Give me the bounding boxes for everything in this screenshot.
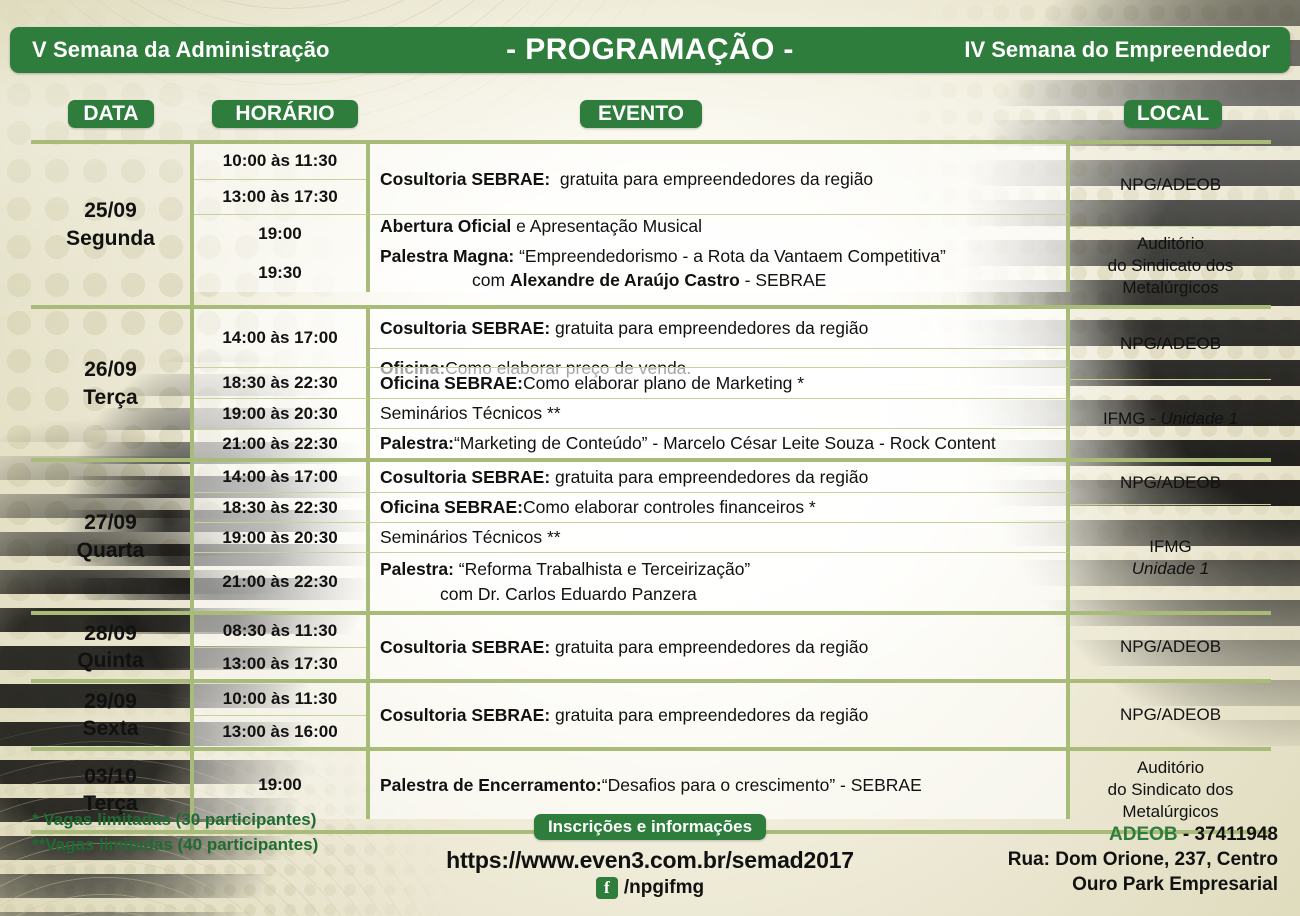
day-cell: 29/09 Sexta xyxy=(31,683,194,747)
event-detail: “Empreendedorismo - a Rota da Vantaem Co… xyxy=(519,246,946,266)
event-detail: - SEBRAE xyxy=(740,270,827,290)
event-title: Cosultoria SEBRAE: xyxy=(380,465,550,490)
facebook-icon[interactable]: f xyxy=(596,877,618,899)
day-cell: 25/09 Segunda xyxy=(31,144,194,305)
time-cell: 08:30 às 11:30 xyxy=(194,615,366,647)
local-text: Metalúrgicos xyxy=(1122,277,1218,299)
event-detail: gratuita para empreendedores da região xyxy=(560,169,873,189)
time-cell: 19:00 xyxy=(194,215,366,254)
local-cell: Auditório do Sindicato dos Metalúrgicos xyxy=(1070,226,1271,305)
header-bar: V Semana da Administração - PROGRAMAÇÃO … xyxy=(10,27,1290,73)
event-cell: Oficina SEBRAE: Como elaborar controles … xyxy=(370,492,1070,522)
day-rows: 14:00 às 17:00 Cosultoria SEBRAE: gratui… xyxy=(194,462,1070,611)
local-text: NPG/ADEOB xyxy=(1120,472,1221,494)
day-rows: 10:00 às 11:30 13:00 às 16:00 Cosultoria… xyxy=(194,683,1070,747)
event-group: Cosultoria SEBRAE: gratuita para empreen… xyxy=(370,309,1070,367)
local-text: NPG/ADEOB xyxy=(1120,174,1221,196)
local-text: NPG/ADEOB xyxy=(1120,333,1221,355)
contact-address-1: Rua: Dom Orione, 237, Centro xyxy=(1008,847,1278,872)
local-cell: NPG/ADEOB xyxy=(1070,309,1271,379)
speaker-name: Alexandre de Araújo Castro xyxy=(510,270,740,290)
event-line: Palestra: “Reforma Trabalhista e Terceir… xyxy=(380,557,750,582)
time-cell: 13:00 às 16:00 xyxy=(194,715,366,748)
day-weekday: Sexta xyxy=(82,715,138,743)
local-cell: NPG/ADEOB xyxy=(1070,144,1271,226)
local-cell: NPG/ADEOB xyxy=(1070,683,1271,747)
schedule-subrow: 10:00 às 11:30 13:00 às 17:30 Cosultoria… xyxy=(194,144,1070,214)
local-text: Auditório xyxy=(1137,757,1204,779)
day-weekday: Segunda xyxy=(66,225,155,253)
local-cell-group: NPG/ADEOB xyxy=(1070,683,1271,747)
contact-address-2: Ouro Park Empresarial xyxy=(1008,872,1278,897)
local-unit: Unidade 1 xyxy=(1161,409,1239,428)
time-cell: 21:00 às 22:30 xyxy=(194,552,370,611)
schedule-subrow: 21:00 às 22:30 Palestra: “Reforma Trabal… xyxy=(194,552,1070,611)
local-text: Auditório xyxy=(1137,233,1204,255)
column-header-local: LOCAL xyxy=(1124,100,1222,128)
event-detail: “Reforma Trabalhista e Terceirização” xyxy=(454,559,750,579)
event-title: Palestra Magna: xyxy=(380,246,514,266)
schedule-subrow: 14:00 às 17:00 Cosultoria SEBRAE: gratui… xyxy=(194,462,1070,492)
time-group: 10:00 às 11:30 13:00 às 16:00 xyxy=(194,683,370,747)
column-header-data: DATA xyxy=(68,100,154,128)
time-cell: 13:00 às 17:30 xyxy=(194,647,366,680)
day-date: 28/09 xyxy=(84,620,137,648)
schedule-subrow: 08:30 às 11:30 13:00 às 17:30 Cosultoria… xyxy=(194,615,1070,679)
time-cell: 19:00 às 20:30 xyxy=(194,522,370,552)
event-title: Oficina SEBRAE: xyxy=(380,371,523,396)
time-cell: 21:00 às 22:30 xyxy=(194,428,370,458)
event-cell: Cosultoria SEBRAE: gratuita para empreen… xyxy=(370,462,1070,492)
schedule-subrow: 18:30 às 22:30 Oficina SEBRAE: Como elab… xyxy=(194,367,1070,398)
day-rows: 10:00 às 11:30 13:00 às 17:30 Cosultoria… xyxy=(194,144,1070,305)
day-rows: 08:30 às 11:30 13:00 às 17:30 Cosultoria… xyxy=(194,615,1070,679)
schedule-table: 25/09 Segunda 10:00 às 11:30 13:00 às 17… xyxy=(31,140,1271,834)
schedule-subrow: 19:00 Palestra de Encerramento: “Desafio… xyxy=(194,751,1070,819)
local-text: NPG/ADEOB xyxy=(1120,704,1221,726)
schedule-subrow: 18:30 às 22:30 Oficina SEBRAE: Como elab… xyxy=(194,492,1070,522)
day-weekday: Quarta xyxy=(77,537,145,565)
event-detail: e Apresentação Musical xyxy=(511,216,702,236)
event-cell: Cosultoria SEBRAE: gratuita para empreen… xyxy=(370,615,1070,679)
event-cell: Seminários Técnicos ** xyxy=(370,522,1070,552)
schedule-subrow: 19:00 às 20:30 Seminários Técnicos ** xyxy=(194,398,1070,428)
local-cell: NPG/ADEOB xyxy=(1070,615,1271,679)
event-cell: Seminários Técnicos ** xyxy=(370,398,1070,428)
time-group: 10:00 às 11:30 13:00 às 17:30 xyxy=(194,144,370,214)
time-cell: 19:00 às 20:30 xyxy=(194,398,370,428)
contact-line-1: ADEOB - 37411948 xyxy=(1008,822,1278,847)
time-cell: 18:30 às 22:30 xyxy=(194,367,370,398)
local-text: do Sindicato dos xyxy=(1108,779,1234,801)
event-cell: Palestra: “Marketing de Conteúdo” - Marc… xyxy=(370,428,1070,458)
time-cell: 10:00 às 11:30 xyxy=(194,683,366,715)
table-row: 27/09 Quarta 14:00 às 17:00 Cosultoria S… xyxy=(31,458,1271,611)
event-cell: Cosultoria SEBRAE: gratuita para empreen… xyxy=(370,309,1066,348)
event-cell: Cosultoria SEBRAE: gratuita para empreen… xyxy=(370,683,1070,747)
table-row: 25/09 Segunda 10:00 às 11:30 13:00 às 17… xyxy=(31,140,1271,305)
event-title: Palestra: xyxy=(380,559,454,579)
time-cell: 13:00 às 17:30 xyxy=(194,179,366,215)
event-cell: Cosultoria SEBRAE: gratuita para empreen… xyxy=(370,144,1070,214)
contact-org: ADEOB xyxy=(1109,824,1178,845)
local-cell-group: NPG/ADEOB IFMG Unidade 1 xyxy=(1070,462,1271,611)
event-title: Oficina SEBRAE: xyxy=(380,495,523,520)
event-title: Abertura Oficial xyxy=(380,216,511,236)
day-cell: 26/09 Terça xyxy=(31,309,194,458)
local-cell: NPG/ADEOB xyxy=(1070,462,1271,504)
day-date: 26/09 xyxy=(84,356,137,384)
event-line: Palestra Magna: “Empreendedorismo - a Ro… xyxy=(380,244,946,269)
poster-root: V Semana da Administração - PROGRAMAÇÃO … xyxy=(0,0,1300,916)
event-title: Palestra: xyxy=(380,431,454,456)
local-text: NPG/ADEOB xyxy=(1120,636,1221,658)
event-line: com Alexandre de Araújo Castro - SEBRAE xyxy=(380,268,826,293)
schedule-subrow: 21:00 às 22:30 Palestra: “Marketing de C… xyxy=(194,428,1070,458)
day-cell: 27/09 Quarta xyxy=(31,462,194,611)
facebook-handle[interactable]: /npgifmg xyxy=(624,877,704,899)
schedule-subrow: 10:00 às 11:30 13:00 às 16:00 Cosultoria… xyxy=(194,683,1070,747)
event-detail: com xyxy=(472,270,510,290)
day-date: 27/09 xyxy=(84,509,137,537)
event-detail: Como elaborar plano de Marketing * xyxy=(523,371,804,396)
table-row: 29/09 Sexta 10:00 às 11:30 13:00 às 16:0… xyxy=(31,679,1271,747)
event-title: Cosultoria SEBRAE: xyxy=(380,169,550,189)
event-detail: Como elaborar controles financeiros * xyxy=(523,495,816,520)
time-cell: 18:30 às 22:30 xyxy=(194,492,370,522)
event-detail: gratuita para empreendedores da região xyxy=(555,465,868,490)
time-group: 19:00 19:30 xyxy=(194,214,370,292)
event-cell: Palestra: “Reforma Trabalhista e Terceir… xyxy=(370,552,1070,611)
event-cell: Palestra de Encerramento: “Desafios para… xyxy=(370,751,1070,819)
time-cell: 10:00 às 11:30 xyxy=(194,144,366,179)
header-right-title: IV Semana do Empreendedor xyxy=(964,37,1270,63)
event-detail: gratuita para empreendedores da região xyxy=(555,316,868,341)
local-cell: IFMG - Unidade 1 xyxy=(1070,379,1271,458)
event-detail: gratuita para empreendedores da região xyxy=(555,703,868,728)
local-text: IFMG xyxy=(1149,536,1192,558)
event-detail: “Desafios para o crescimento” - SEBRAE xyxy=(602,773,922,798)
event-detail: Seminários Técnicos ** xyxy=(380,401,561,426)
event-detail: gratuita para empreendedores da região xyxy=(555,635,868,660)
local-text: IFMG - Unidade 1 xyxy=(1103,408,1238,430)
schedule-subrow: 14:00 às 17:00 Cosultoria SEBRAE: gratui… xyxy=(194,309,1070,367)
table-row: 28/09 Quinta 08:30 às 11:30 13:00 às 17:… xyxy=(31,611,1271,679)
local-cell: IFMG Unidade 1 xyxy=(1070,504,1271,611)
day-weekday: Terça xyxy=(83,384,137,412)
event-title: Cosultoria SEBRAE: xyxy=(380,316,550,341)
event-cell: Abertura Oficial e Apresentação Musical … xyxy=(370,214,1070,292)
event-line: com Dr. Carlos Eduardo Panzera xyxy=(380,582,697,607)
local-text: do Sindicato dos xyxy=(1108,255,1234,277)
event-title: Cosultoria SEBRAE: xyxy=(380,703,550,728)
contact-block: ADEOB - 37411948 Rua: Dom Orione, 237, C… xyxy=(1008,822,1278,897)
event-title: Cosultoria SEBRAE: xyxy=(380,635,550,660)
day-rows: 14:00 às 17:00 Cosultoria SEBRAE: gratui… xyxy=(194,309,1070,458)
event-cell: Oficina SEBRAE: Como elaborar plano de M… xyxy=(370,367,1070,398)
day-date: 03/10 xyxy=(84,763,137,791)
local-cell-group: NPG/ADEOB xyxy=(1070,615,1271,679)
day-weekday: Quinta xyxy=(77,647,144,675)
schedule-subrow: 19:00 19:30 Abertura Oficial e Apresenta… xyxy=(194,214,1070,292)
time-cell: 14:00 às 17:00 xyxy=(194,309,370,367)
event-title: Palestra de Encerramento: xyxy=(380,773,602,798)
local-cell-group: NPG/ADEOB Auditório do Sindicato dos Met… xyxy=(1070,144,1271,305)
time-cell: 19:30 xyxy=(194,254,366,293)
registration-label: Inscrições e informações xyxy=(534,814,766,840)
day-date: 29/09 xyxy=(84,688,137,716)
event-detail: Seminários Técnicos ** xyxy=(380,525,561,550)
event-detail: “Marketing de Conteúdo” - Marcelo César … xyxy=(454,431,996,456)
local-cell-group: NPG/ADEOB IFMG - Unidade 1 xyxy=(1070,309,1271,458)
time-cell: 14:00 às 17:00 xyxy=(194,462,370,492)
time-group: 08:30 às 11:30 13:00 às 17:30 xyxy=(194,615,370,679)
column-header-horario: HORÁRIO xyxy=(212,100,358,128)
table-row: 26/09 Terça 14:00 às 17:00 Cosultoria SE… xyxy=(31,305,1271,458)
contact-phone: - 37411948 xyxy=(1178,824,1278,845)
schedule-subrow: 19:00 às 20:30 Seminários Técnicos ** xyxy=(194,522,1070,552)
local-unit: Unidade 1 xyxy=(1132,558,1210,580)
column-header-evento: EVENTO xyxy=(580,100,702,128)
event-line: Abertura Oficial e Apresentação Musical xyxy=(380,214,702,239)
day-cell: 28/09 Quinta xyxy=(31,615,194,679)
day-date: 25/09 xyxy=(84,197,137,225)
